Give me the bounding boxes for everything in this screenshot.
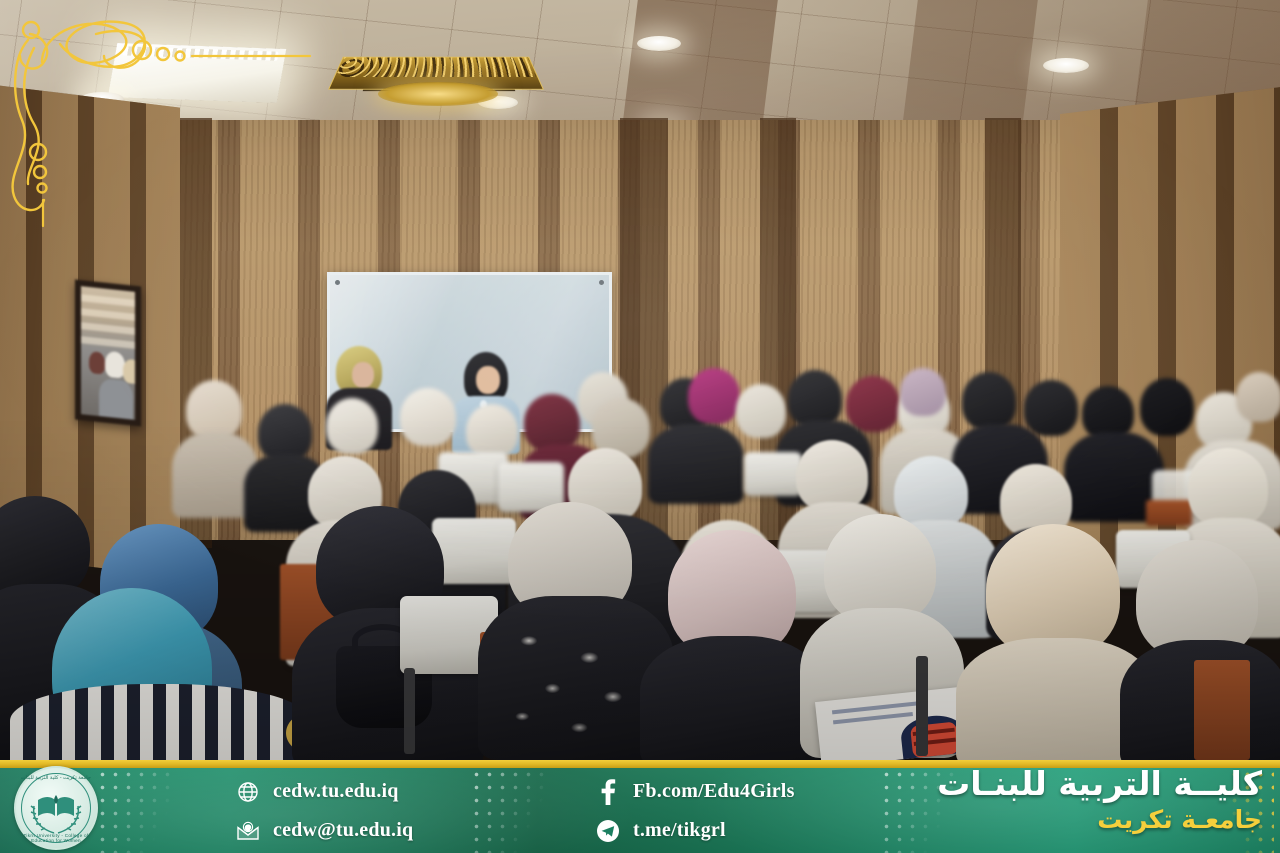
university-logo[interactable]: جامعة تكريت - كلية التربية للبنات Tikrit… bbox=[14, 766, 98, 850]
wall-mirror bbox=[75, 280, 141, 427]
attendee-body bbox=[640, 636, 826, 760]
attendee-head bbox=[962, 372, 1016, 430]
contact-email-row[interactable]: @ cedw@tu.edu.iq bbox=[236, 815, 413, 846]
facebook-icon bbox=[596, 780, 620, 804]
classroom-photo bbox=[0, 0, 1280, 760]
university-name-arabic: جامعـة تكريت bbox=[937, 805, 1262, 835]
presenter-face bbox=[352, 362, 374, 388]
email-label: cedw@tu.edu.iq bbox=[273, 819, 413, 842]
globe-icon bbox=[236, 780, 260, 804]
social-telegram-row[interactable]: t.me/tikgrl bbox=[596, 815, 795, 846]
facebook-label: Fb.com/Edu4Girls bbox=[633, 780, 795, 803]
attendee-head bbox=[900, 368, 946, 416]
ceiling-chandelier bbox=[336, 42, 536, 108]
attendee-head bbox=[846, 376, 900, 432]
telegram-icon bbox=[596, 819, 620, 843]
attendee-head bbox=[736, 384, 786, 438]
open-book-icon bbox=[36, 794, 76, 818]
social-column: Fb.com/Edu4Girls t.me/tikgrl bbox=[596, 776, 795, 846]
arabic-brand-block: كليــة التربية للبنـات جامعـة تكريت bbox=[937, 766, 1262, 835]
logo-arabic-text: جامعة تكريت - كلية التربية للبنات bbox=[14, 775, 98, 781]
ceiling-downlight bbox=[1043, 58, 1089, 73]
envelope-icon: @ bbox=[236, 819, 260, 843]
attendee-head bbox=[688, 368, 740, 424]
attendee-body bbox=[648, 424, 744, 504]
attendee-head bbox=[400, 388, 456, 446]
attendee-head bbox=[1236, 372, 1280, 422]
svg-text:@: @ bbox=[245, 824, 251, 831]
social-facebook-row[interactable]: Fb.com/Edu4Girls bbox=[596, 776, 795, 807]
dot-pattern bbox=[470, 768, 544, 853]
presenter-face bbox=[476, 366, 500, 394]
attendee-garment-pattern bbox=[492, 610, 660, 750]
college-name-arabic: كليــة التربية للبنـات bbox=[937, 766, 1262, 803]
ceiling-downlight bbox=[637, 36, 681, 51]
dot-pattern bbox=[96, 768, 176, 853]
attendee-head bbox=[1140, 378, 1194, 436]
attendee-head bbox=[186, 380, 242, 440]
attendee-head bbox=[1024, 380, 1078, 436]
contact-website-row[interactable]: cedw.tu.edu.iq bbox=[236, 776, 413, 807]
attendee-head bbox=[1188, 448, 1268, 528]
screenshot-root: جامعة تكريت - كلية التربية للبنات Tikrit… bbox=[0, 0, 1280, 853]
attendee-head bbox=[466, 404, 518, 458]
attendee-head bbox=[326, 398, 378, 454]
ceiling-panel-light bbox=[108, 43, 286, 103]
telegram-label: t.me/tikgrl bbox=[633, 819, 726, 842]
contact-column: cedw.tu.edu.iq @ cedw@tu.edu.iq bbox=[236, 776, 413, 846]
attendee-body bbox=[10, 684, 310, 760]
website-label: cedw.tu.edu.iq bbox=[273, 780, 399, 803]
